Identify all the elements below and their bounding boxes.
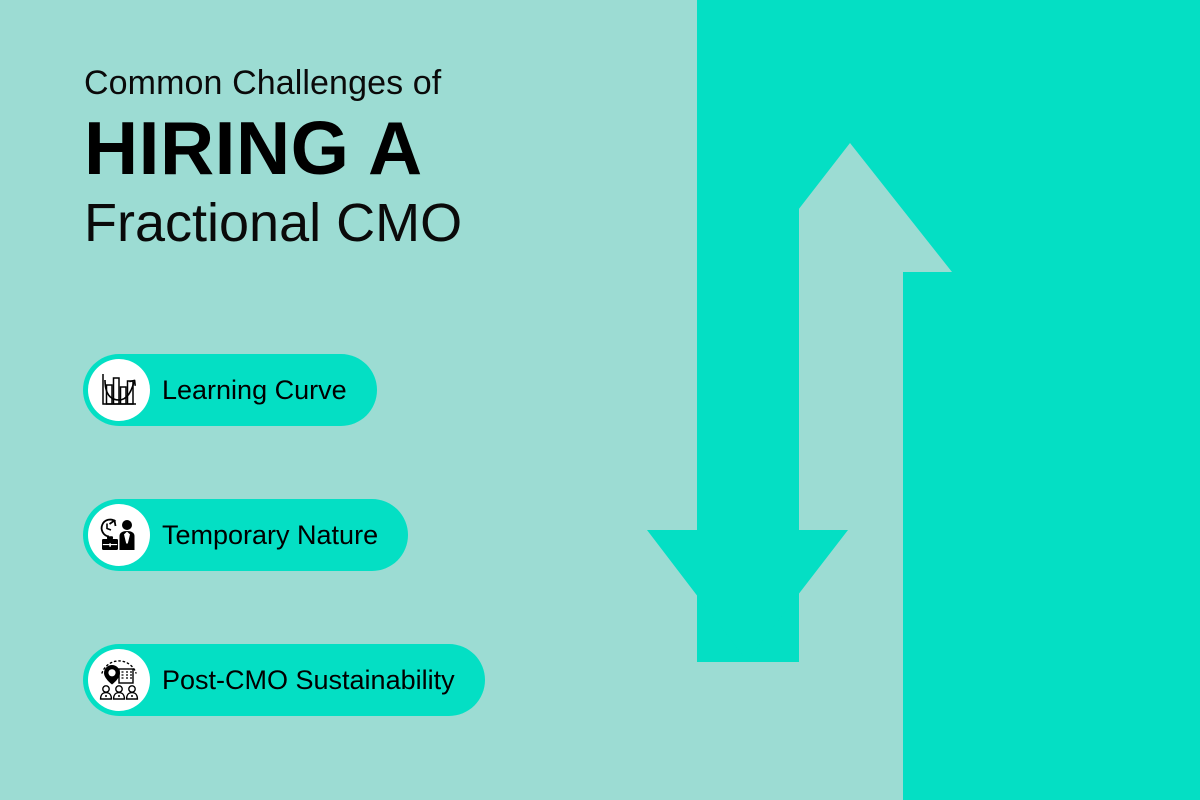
challenge-item-post-cmo-sustainability[interactable]: Post-CMO Sustainability — [83, 644, 485, 716]
headline-pre: Common Challenges of — [84, 62, 684, 104]
page-title: HIRING A — [84, 106, 684, 190]
challenge-label: Temporary Nature — [162, 520, 378, 550]
challenge-item-temporary-nature[interactable]: Temporary Nature — [83, 499, 408, 571]
challenge-item-learning-curve[interactable]: Learning Curve — [83, 354, 377, 426]
challenge-label: Post-CMO Sustainability — [162, 665, 455, 695]
badge-learning-curve — [88, 359, 150, 421]
infographic-canvas: Common Challenges of HIRING A Fractional… — [0, 0, 1200, 800]
badge-temporary-nature — [88, 504, 150, 566]
headline-post: Fractional CMO — [84, 192, 684, 254]
building-location-pin-team-icon — [95, 656, 143, 704]
bar-chart-learning-curve-icon — [96, 367, 142, 413]
challenge-list: Learning Curve — [83, 354, 703, 716]
headline-block: Common Challenges of HIRING A Fractional… — [84, 62, 684, 254]
badge-post-cmo-sustainability — [88, 649, 150, 711]
challenge-label: Learning Curve — [162, 375, 347, 405]
clock-businessperson-briefcase-icon — [96, 512, 142, 558]
